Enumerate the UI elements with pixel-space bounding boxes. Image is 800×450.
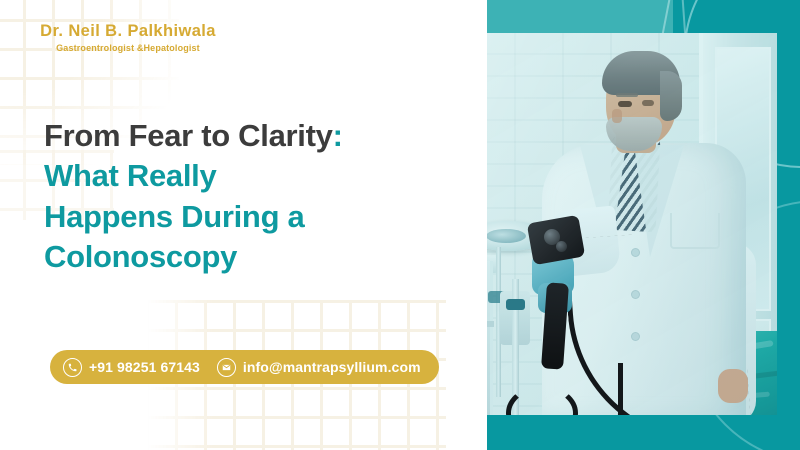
headline-colon: :: [333, 118, 343, 153]
brand-subtitle: Gastroentrologist &Hepatologist: [28, 43, 228, 53]
headline-line-3: Happens During a: [44, 197, 444, 237]
teal-accent-bar-inner: [487, 0, 630, 33]
artwork-panel: [487, 0, 800, 450]
photo-color-grade: [487, 33, 777, 415]
headline-block: From Fear to Clarity: What Really Happen…: [44, 116, 444, 277]
phone-number: +91 98251 67143: [89, 359, 200, 375]
contact-bar: +91 98251 67143 info@mantrapsyllium.com: [50, 350, 439, 384]
headline-line-2: What Really: [44, 156, 444, 196]
promo-banner: Dr. Neil B. Palkhiwala Gastroentrologist…: [0, 0, 800, 450]
headline-line-4: Colonoscopy: [44, 237, 444, 277]
email-contact[interactable]: info@mantrapsyllium.com: [217, 358, 421, 377]
phone-contact[interactable]: +91 98251 67143: [63, 358, 200, 377]
brand-name: Dr. Neil B. Palkhiwala: [28, 22, 228, 40]
envelope-icon: [217, 358, 236, 377]
phone-icon: [63, 358, 82, 377]
email-address: info@mantrapsyllium.com: [243, 359, 421, 375]
headline-line-1: From Fear to Clarity:: [44, 116, 444, 156]
headline-line-1-text: From Fear to Clarity: [44, 118, 333, 153]
doctor-photo: [487, 33, 777, 415]
brand-logo: Dr. Neil B. Palkhiwala Gastroentrologist…: [28, 22, 228, 53]
